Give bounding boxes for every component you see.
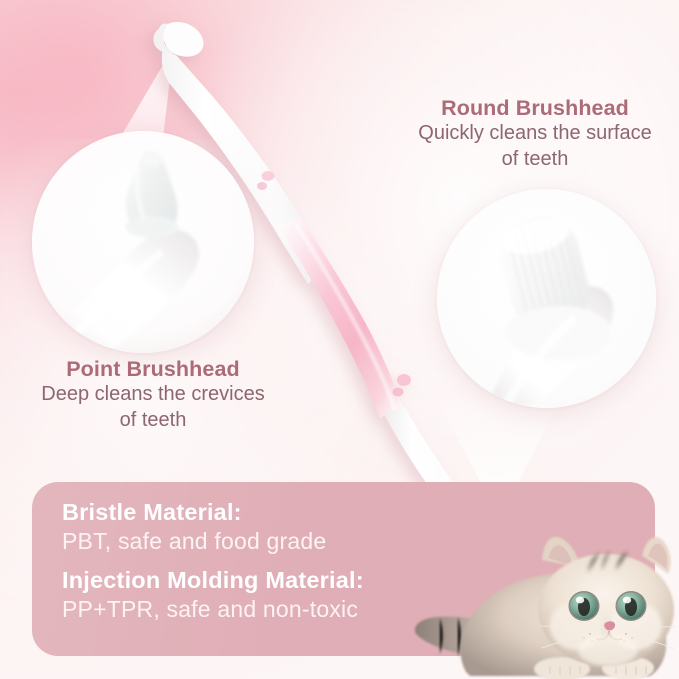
callout-point-brushhead-desc-line1: Deep cleans the crevices [8,382,298,408]
spec-label-injection-molding-material: Injection Molding Material: [62,566,364,595]
spec-value-injection-molding-material: PP+TPR, safe and non-toxic [62,595,364,625]
callout-round-brushhead-desc-line1: Quickly cleans the surface [401,121,669,147]
inset-point-brushhead-image [32,131,254,353]
callout-point-brushhead-desc-line2: of teeth [8,408,298,434]
infographic-canvas: Round Brushhead Quickly cleans the surfa… [0,0,679,679]
callout-point-brushhead-title: Point Brushhead [8,357,298,382]
callout-point-brushhead: Point Brushhead Deep cleans the crevices… [8,357,298,434]
inset-round-brushhead [437,189,656,408]
spec-value-bristle-material: PBT, safe and food grade [62,527,326,557]
material-spec-panel: Bristle Material: PBT, safe and food gra… [32,482,655,656]
spec-item-injection-molding-material: Injection Molding Material: PP+TPR, safe… [62,566,364,625]
inset-round-brushhead-image [437,189,656,408]
inset-point-brushhead [32,131,254,353]
callout-round-brushhead: Round Brushhead Quickly cleans the surfa… [401,96,669,173]
callout-round-brushhead-desc-line2: of teeth [401,147,669,173]
callout-round-brushhead-title: Round Brushhead [401,96,669,121]
spec-label-bristle-material: Bristle Material: [62,498,326,527]
spec-item-bristle-material: Bristle Material: PBT, safe and food gra… [62,498,326,557]
